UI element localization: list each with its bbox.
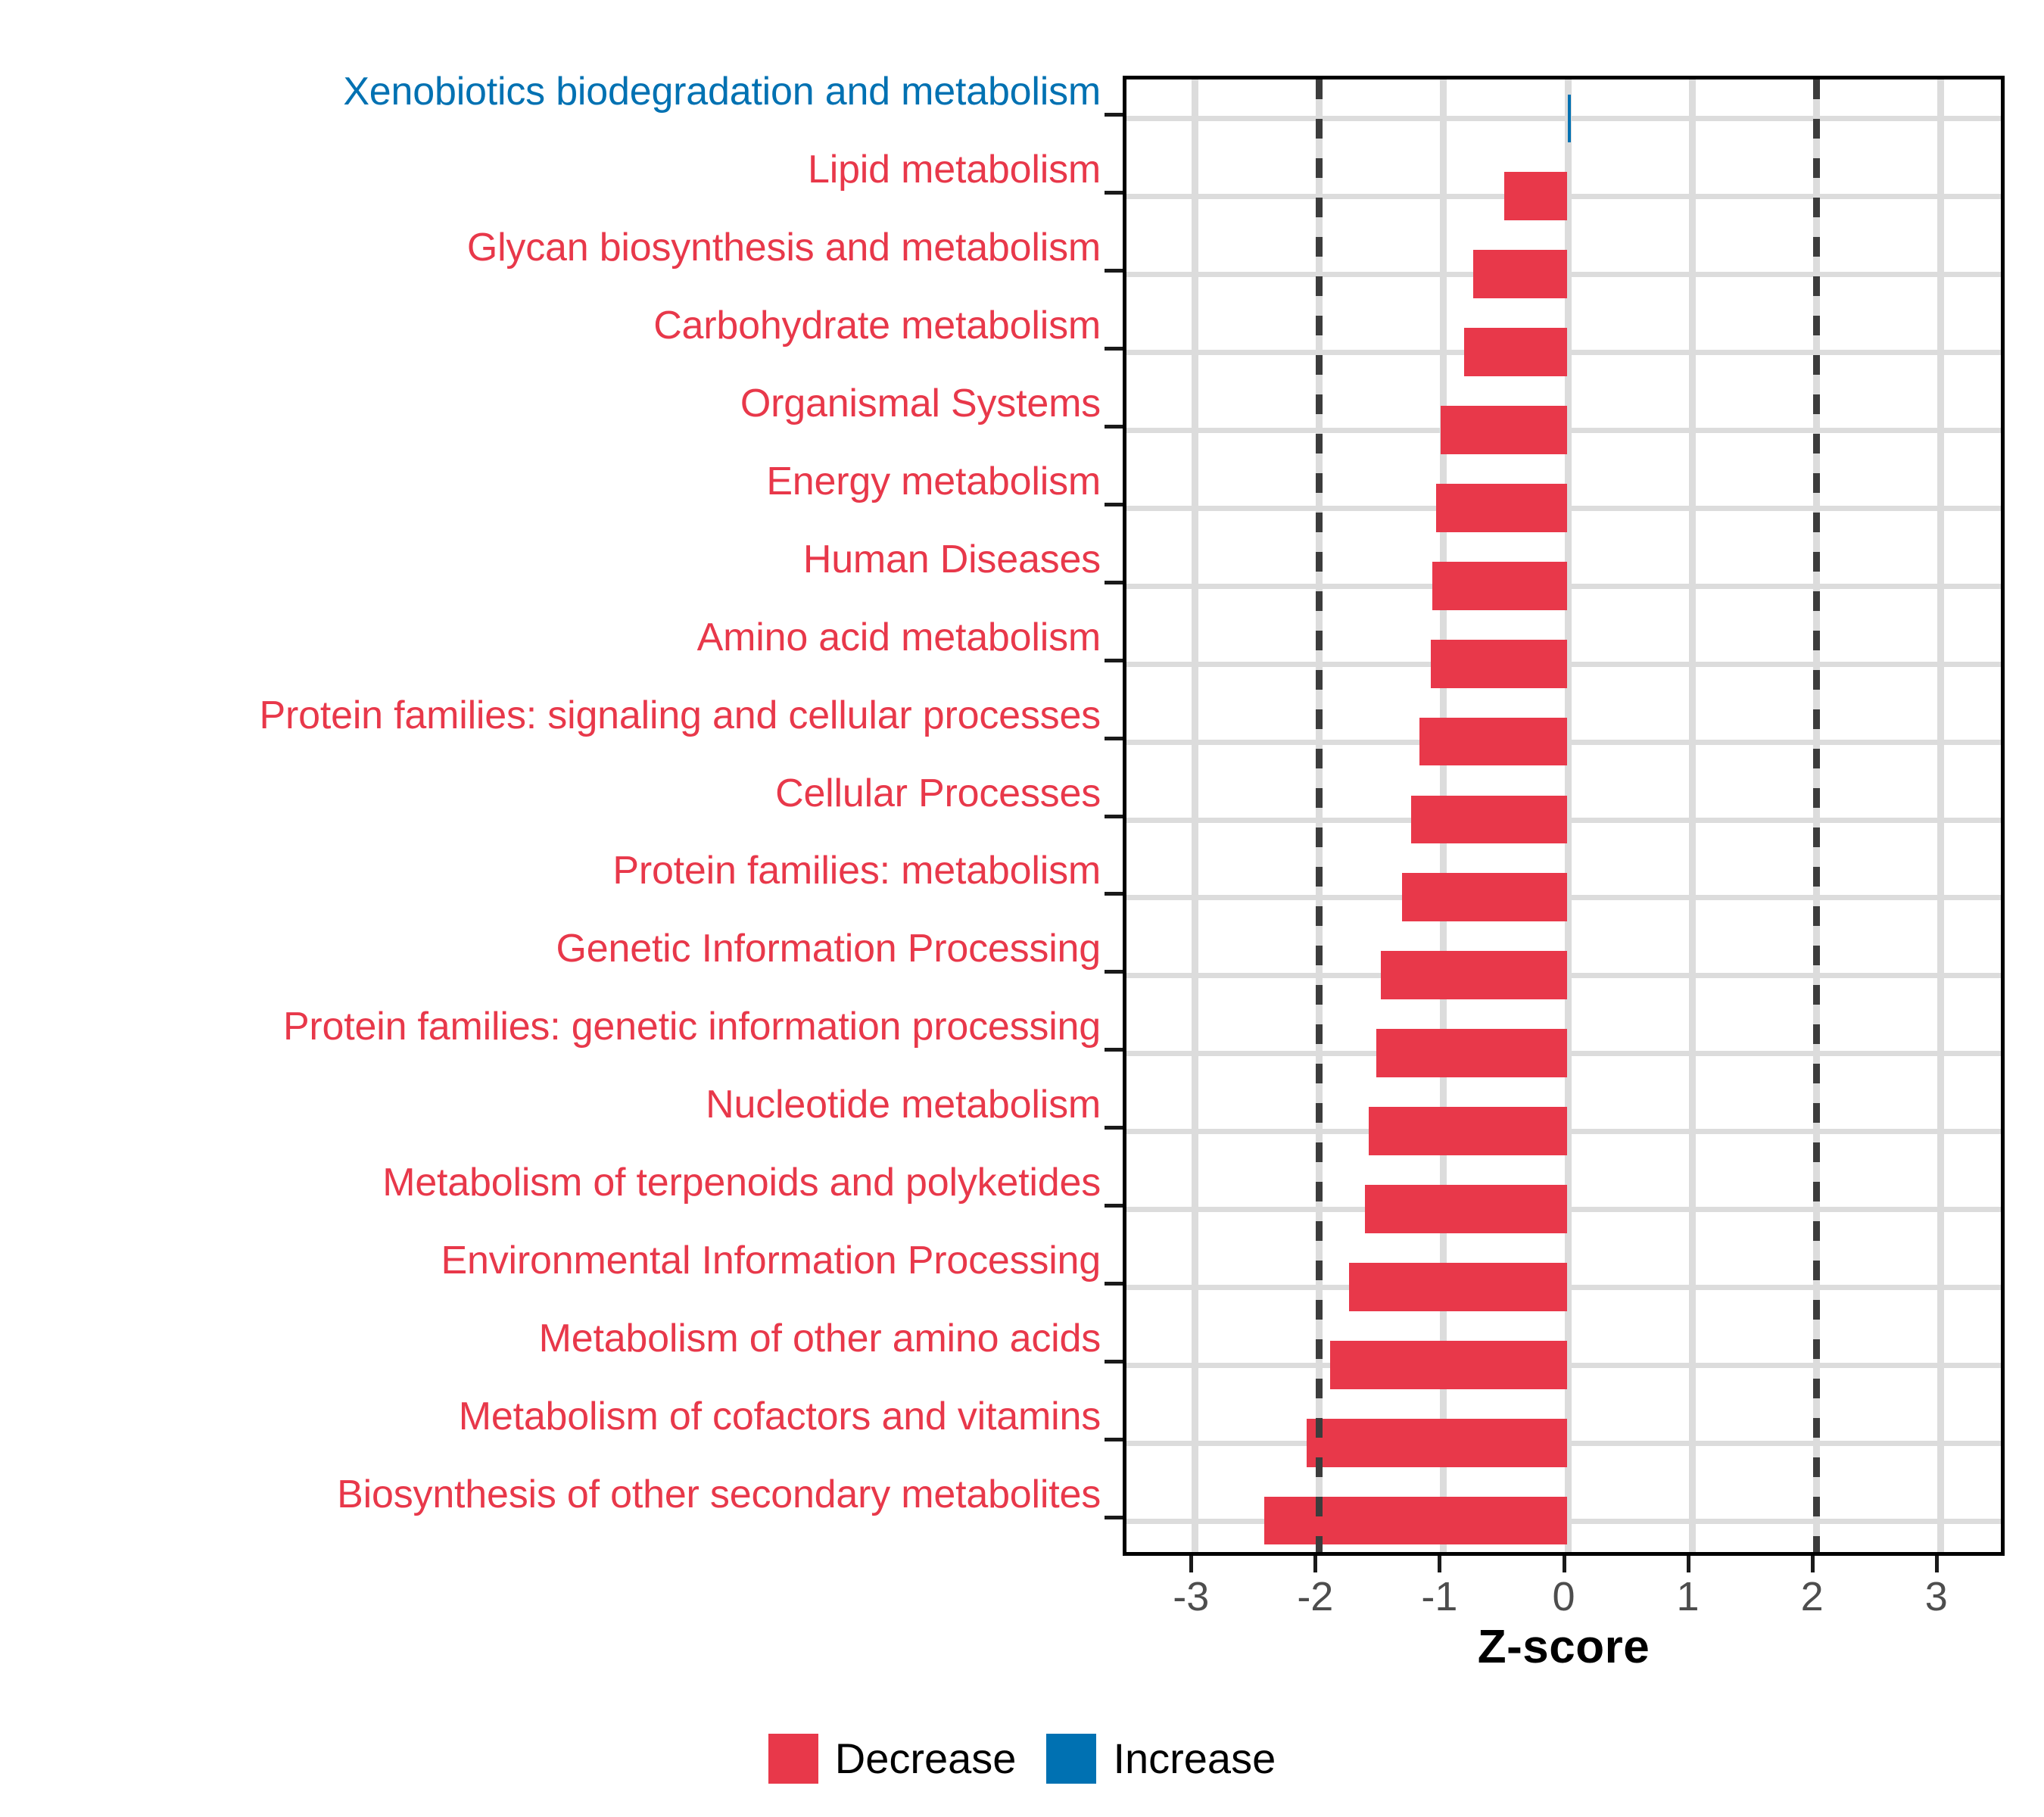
- y-axis-label: Nucleotide metabolism: [706, 1085, 1101, 1124]
- y-axis-label: Cellular Processes: [775, 774, 1101, 813]
- y-axis-label: Environmental Information Processing: [441, 1241, 1101, 1280]
- bar[interactable]: [1431, 640, 1567, 688]
- y-axis-labels: Xenobiotics biodegradation and metabolis…: [0, 53, 1113, 1552]
- y-axis-label: Biosynthesis of other secondary metaboli…: [337, 1475, 1101, 1514]
- y-axis-label: Xenobiotics biodegradation and metabolis…: [343, 72, 1101, 111]
- legend-swatch-increase: [1046, 1734, 1096, 1784]
- y-axis-tick: [1105, 737, 1124, 740]
- vertical-gridline: [1937, 79, 1944, 1552]
- x-axis-tick-label: -2: [1297, 1575, 1333, 1618]
- y-axis-label: Energy metabolism: [766, 462, 1101, 501]
- bar[interactable]: [1411, 796, 1568, 844]
- legend-swatch-decrease: [768, 1734, 818, 1784]
- x-axis-tick-label: 0: [1552, 1575, 1575, 1618]
- y-axis-label: Lipid metabolism: [808, 150, 1101, 189]
- y-axis-tick: [1105, 1516, 1124, 1519]
- y-axis-label: Metabolism of cofactors and vitamins: [459, 1397, 1101, 1436]
- legend-label-increase: Increase: [1113, 1737, 1276, 1781]
- x-axis-tick: [1563, 1556, 1566, 1572]
- x-axis-tick: [1313, 1556, 1317, 1572]
- bar[interactable]: [1419, 718, 1567, 766]
- x-axis-tick-label: 3: [1925, 1575, 1948, 1618]
- bar[interactable]: [1264, 1497, 1567, 1545]
- y-axis-label: Human Diseases: [803, 540, 1101, 579]
- vertical-gridline: [1689, 79, 1696, 1552]
- bar[interactable]: [1432, 562, 1568, 610]
- legend-label-decrease: Decrease: [835, 1737, 1017, 1781]
- x-axis-tick: [1935, 1556, 1939, 1572]
- bar[interactable]: [1307, 1419, 1568, 1467]
- y-axis-tick: [1105, 970, 1124, 974]
- y-axis-tick: [1105, 815, 1124, 818]
- chart-root: Xenobiotics biodegradation and metabolis…: [0, 0, 2044, 1817]
- y-axis-tick: [1105, 425, 1124, 429]
- y-axis-label: Protein families: signaling and cellular…: [260, 696, 1101, 735]
- y-axis-label: Organismal Systems: [740, 384, 1101, 423]
- x-axis-tick-label: -1: [1421, 1575, 1457, 1618]
- plot-panel: [1123, 76, 2005, 1556]
- x-axis-tick: [1189, 1556, 1193, 1572]
- y-axis-label: Protein families: metabolism: [612, 851, 1101, 890]
- x-axis-tick-label: 1: [1677, 1575, 1700, 1618]
- y-axis-tick: [1105, 1204, 1124, 1208]
- x-axis-title: Z-score: [1123, 1620, 2005, 1674]
- horizontal-gridline: [1126, 116, 2001, 121]
- x-axis-tick: [1811, 1556, 1815, 1572]
- x-axis-tick: [1687, 1556, 1690, 1572]
- y-axis-label: Genetic Information Processing: [556, 929, 1101, 968]
- bar[interactable]: [1349, 1263, 1568, 1311]
- bar[interactable]: [1464, 328, 1567, 376]
- reference-line: [1813, 79, 1820, 1552]
- bar[interactable]: [1402, 873, 1567, 921]
- bar[interactable]: [1436, 484, 1568, 532]
- reference-line: [1316, 79, 1323, 1552]
- y-axis-tick: [1105, 347, 1124, 351]
- y-axis-tick: [1105, 1282, 1124, 1286]
- y-axis-label: Amino acid metabolism: [697, 618, 1101, 657]
- x-axis-tick-label: -3: [1173, 1575, 1209, 1618]
- bar[interactable]: [1376, 1029, 1568, 1077]
- bar[interactable]: [1365, 1185, 1567, 1233]
- bar[interactable]: [1330, 1341, 1567, 1389]
- x-axis-tick: [1438, 1556, 1441, 1572]
- legend-item-increase[interactable]: Increase: [1046, 1734, 1276, 1784]
- vertical-gridline: [1192, 79, 1198, 1552]
- y-axis-tick: [1105, 1126, 1124, 1130]
- y-axis-tick: [1105, 191, 1124, 195]
- y-axis-tick: [1105, 1438, 1124, 1441]
- y-axis-tick: [1105, 503, 1124, 506]
- bar[interactable]: [1473, 250, 1568, 298]
- bar[interactable]: [1369, 1107, 1568, 1155]
- chart-legend: Decrease Increase: [0, 1734, 2044, 1784]
- y-axis-tick: [1105, 113, 1124, 117]
- y-axis-tick: [1105, 581, 1124, 584]
- y-axis-tick: [1105, 659, 1124, 662]
- bar[interactable]: [1504, 172, 1568, 220]
- bar[interactable]: [1441, 406, 1567, 454]
- y-axis-tick-marks: [1101, 76, 1124, 1556]
- y-axis-tick: [1105, 1360, 1124, 1364]
- y-axis-tick: [1105, 892, 1124, 896]
- y-axis-tick: [1105, 1048, 1124, 1052]
- y-axis-label: Glycan biosynthesis and metabolism: [467, 228, 1101, 267]
- legend-item-decrease[interactable]: Decrease: [768, 1734, 1017, 1784]
- y-axis-label: Metabolism of other amino acids: [539, 1319, 1101, 1358]
- y-axis-label: Carbohydrate metabolism: [653, 306, 1101, 345]
- y-axis-label: Metabolism of terpenoids and polyketides: [382, 1163, 1101, 1202]
- bar[interactable]: [1381, 951, 1567, 999]
- x-axis-tick-label: 2: [1801, 1575, 1824, 1618]
- y-axis-tick: [1105, 269, 1124, 273]
- bar[interactable]: [1568, 95, 1571, 143]
- y-axis-label: Protein families: genetic information pr…: [283, 1007, 1101, 1046]
